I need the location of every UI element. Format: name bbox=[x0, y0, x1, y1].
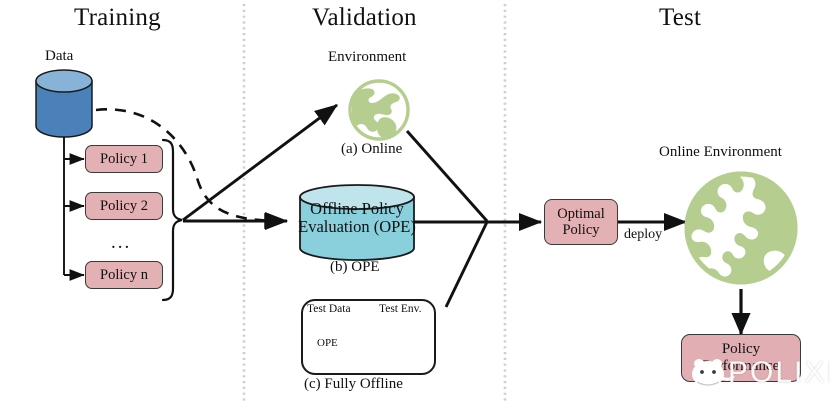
test-online-environment-globe-icon bbox=[687, 174, 795, 282]
policy-performance-box[interactable]: Policy Performance bbox=[681, 334, 801, 382]
optimal-policy-box[interactable]: Optimal Policy bbox=[544, 199, 618, 245]
environment-label: Environment bbox=[328, 50, 406, 66]
caption-ope: (b) OPE bbox=[330, 260, 380, 276]
policy-ellipsis: ... bbox=[111, 233, 131, 253]
online-environment-globe-icon bbox=[350, 81, 408, 139]
caption-online: (a) Online bbox=[341, 142, 402, 158]
policies-brace bbox=[163, 140, 182, 300]
policy-performance-line1: Policy bbox=[722, 341, 760, 358]
data-cylinder-icon bbox=[36, 70, 92, 137]
policy-box-1-label: Policy 1 bbox=[100, 151, 148, 168]
policy-box-n[interactable]: Policy n bbox=[85, 261, 163, 289]
caption-fully-offline: (c) Fully Offline bbox=[304, 377, 403, 393]
data-label: Data bbox=[45, 49, 73, 65]
online-to-convergence-line bbox=[407, 131, 487, 221]
fully-offline-to-convergence-line bbox=[446, 222, 487, 307]
ope-title: Offline Policy Evaluation (OPE) bbox=[297, 200, 417, 237]
diagram-root: Training Validation Test Data Policy 1 P… bbox=[0, 0, 830, 405]
test-data-cylinder-label: OPE bbox=[317, 338, 338, 350]
ope-title-line2: Evaluation (OPE) bbox=[297, 218, 417, 236]
policy-box-2[interactable]: Policy 2 bbox=[85, 192, 163, 220]
optimal-policy-line1: Optimal bbox=[557, 206, 605, 222]
policy-box-n-label: Policy n bbox=[100, 267, 148, 284]
column-title-training: Training bbox=[74, 5, 161, 31]
policy-box-1[interactable]: Policy 1 bbox=[85, 145, 163, 173]
optimal-policy-line2: Policy bbox=[562, 222, 599, 238]
deploy-label: deploy bbox=[624, 228, 662, 243]
column-title-test: Test bbox=[659, 5, 701, 31]
policy-performance-line2: Performance bbox=[703, 358, 780, 375]
test-env-label: Test Env. bbox=[379, 303, 422, 315]
online-environment-label: Online Environment bbox=[659, 145, 782, 161]
data-to-policies-connector bbox=[64, 137, 84, 275]
test-data-label: Test Data bbox=[307, 303, 351, 315]
policy-box-2-label: Policy 2 bbox=[100, 198, 148, 215]
ope-title-line1: Offline Policy bbox=[297, 200, 417, 218]
column-title-validation: Validation bbox=[312, 5, 417, 31]
